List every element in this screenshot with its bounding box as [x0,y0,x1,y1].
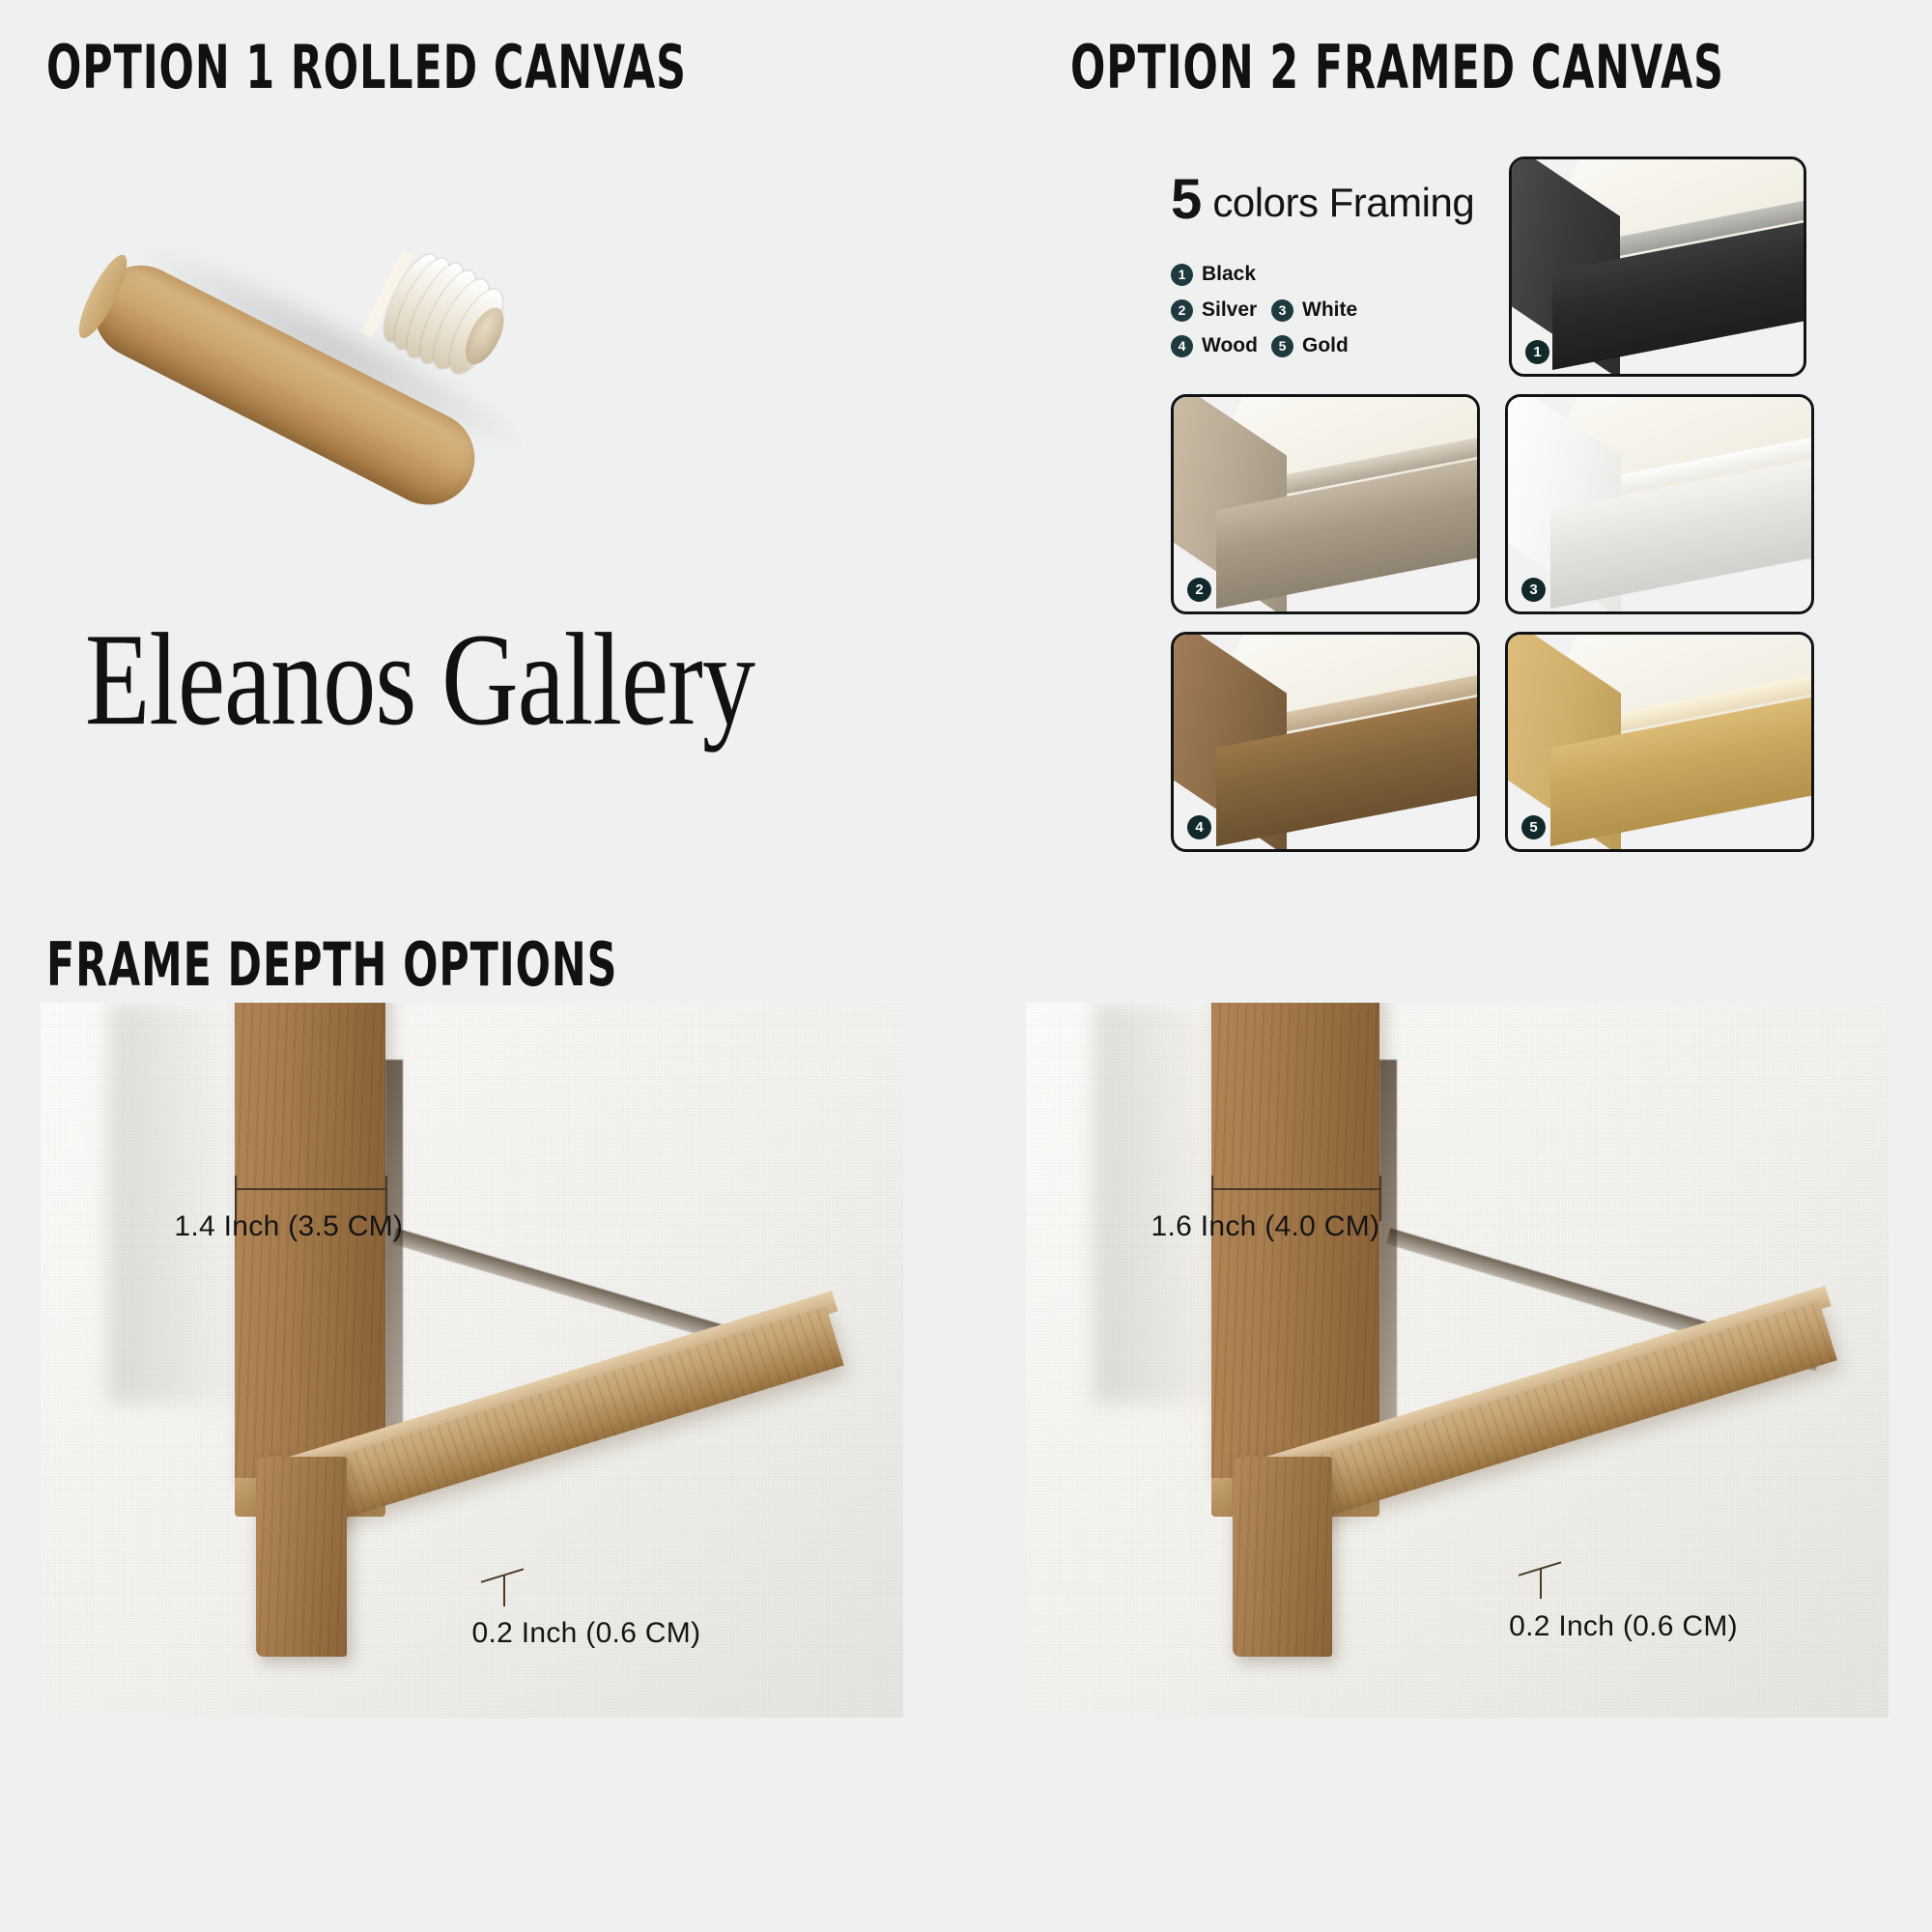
frame-corner-photo-silver [1174,397,1477,611]
legend-count: 5 [1171,168,1202,231]
legend-item-white: 3 White [1271,298,1357,322]
frame-rail-vertical [1211,1003,1379,1489]
frame-swatch-black[interactable]: 1 [1509,156,1806,377]
legend-title-text: colors Framing [1202,180,1474,225]
depth-dimension-line [235,1188,386,1190]
legend-item-black: 1 Black [1171,263,1271,286]
badge-5-icon: 5 [1271,335,1293,357]
frame-swatch-wood[interactable]: 4 [1171,632,1480,852]
legend-rows: 1 Black 2 Silver 3 White 4 Wood [1171,263,1490,357]
tile-badge-4: 4 [1187,815,1211,839]
rolled-canvas-tube-image [92,169,584,430]
heading-frame-depth-options: FRAME DEPTH OPTIONS [46,929,617,1000]
badge-3-icon: 3 [1271,299,1293,322]
depth-photo-1-4-inch: 1.4 Inch (3.5 CM) 0.2 Inch (0.6 CM) [41,1003,903,1718]
depth-dimension-tick-right [1379,1176,1381,1221]
frame-swatch-silver[interactable]: 2 [1171,394,1480,614]
legend-row-2: 2 Silver 3 White [1171,298,1490,322]
frame-corner-block [1233,1457,1332,1657]
frame-corner-photo-white [1508,397,1811,611]
legend-item-silver: 2 Silver [1171,298,1271,322]
badge-1-icon: 1 [1171,264,1193,286]
frame-corner-photo-wood [1174,635,1477,849]
brand-logo-eleanos-gallery: Eleanos Gallery [85,604,754,755]
depth-dimension-line [1211,1188,1380,1190]
tile-badge-5: 5 [1521,815,1546,839]
thickness-dimension-line [503,1575,505,1606]
legend-label-wood: Wood [1202,334,1258,357]
legend-label-silver: Silver [1202,298,1257,322]
heading-option-1-rolled-canvas: OPTION 1 ROLLED CANVAS [46,32,687,102]
badge-4-icon: 4 [1171,335,1193,357]
depth-photo-1-6-inch: 1.6 Inch (4.0 CM) 0.2 Inch (0.6 CM) [1026,1003,1889,1718]
tile-badge-1: 1 [1525,340,1549,364]
thickness-dimension-label: 0.2 Inch (0.6 CM) [1509,1610,1738,1643]
legend-title: 5 colors Framing [1171,172,1490,228]
frame-swatch-gold[interactable]: 5 [1505,632,1814,852]
depth-dimension-label: 1.4 Inch (3.5 CM) [174,1210,403,1243]
thickness-dimension-line [1540,1568,1542,1600]
legend-label-gold: Gold [1302,334,1349,357]
legend-label-black: Black [1202,263,1256,286]
frame-rail-vertical [235,1003,385,1489]
legend-row-3: 4 Wood 5 Gold [1171,334,1490,357]
frame-corner-photo-gold [1508,635,1811,849]
frame-corner-block [256,1457,347,1657]
legend-row-1: 1 Black [1171,263,1490,286]
tile-badge-3: 3 [1521,578,1546,602]
infographic-page: OPTION 1 ROLLED CANVAS OPTION 2 FRAMED C… [0,0,1932,1932]
frame-corner-photo-black [1512,159,1804,374]
thickness-dimension-label: 0.2 Inch (0.6 CM) [472,1617,701,1650]
legend-item-gold: 5 Gold [1271,334,1349,357]
heading-option-2-framed-canvas: OPTION 2 FRAMED CANVAS [1070,32,1724,102]
framing-colors-legend: 5 colors Framing 1 Black 2 Silver 3 Whit… [1171,172,1490,357]
depth-dimension-label: 1.6 Inch (4.0 CM) [1151,1210,1379,1243]
frame-swatch-white[interactable]: 3 [1505,394,1814,614]
legend-label-white: White [1302,298,1357,322]
legend-item-wood: 4 Wood [1171,334,1271,357]
badge-2-icon: 2 [1171,299,1193,322]
tile-badge-2: 2 [1187,578,1211,602]
